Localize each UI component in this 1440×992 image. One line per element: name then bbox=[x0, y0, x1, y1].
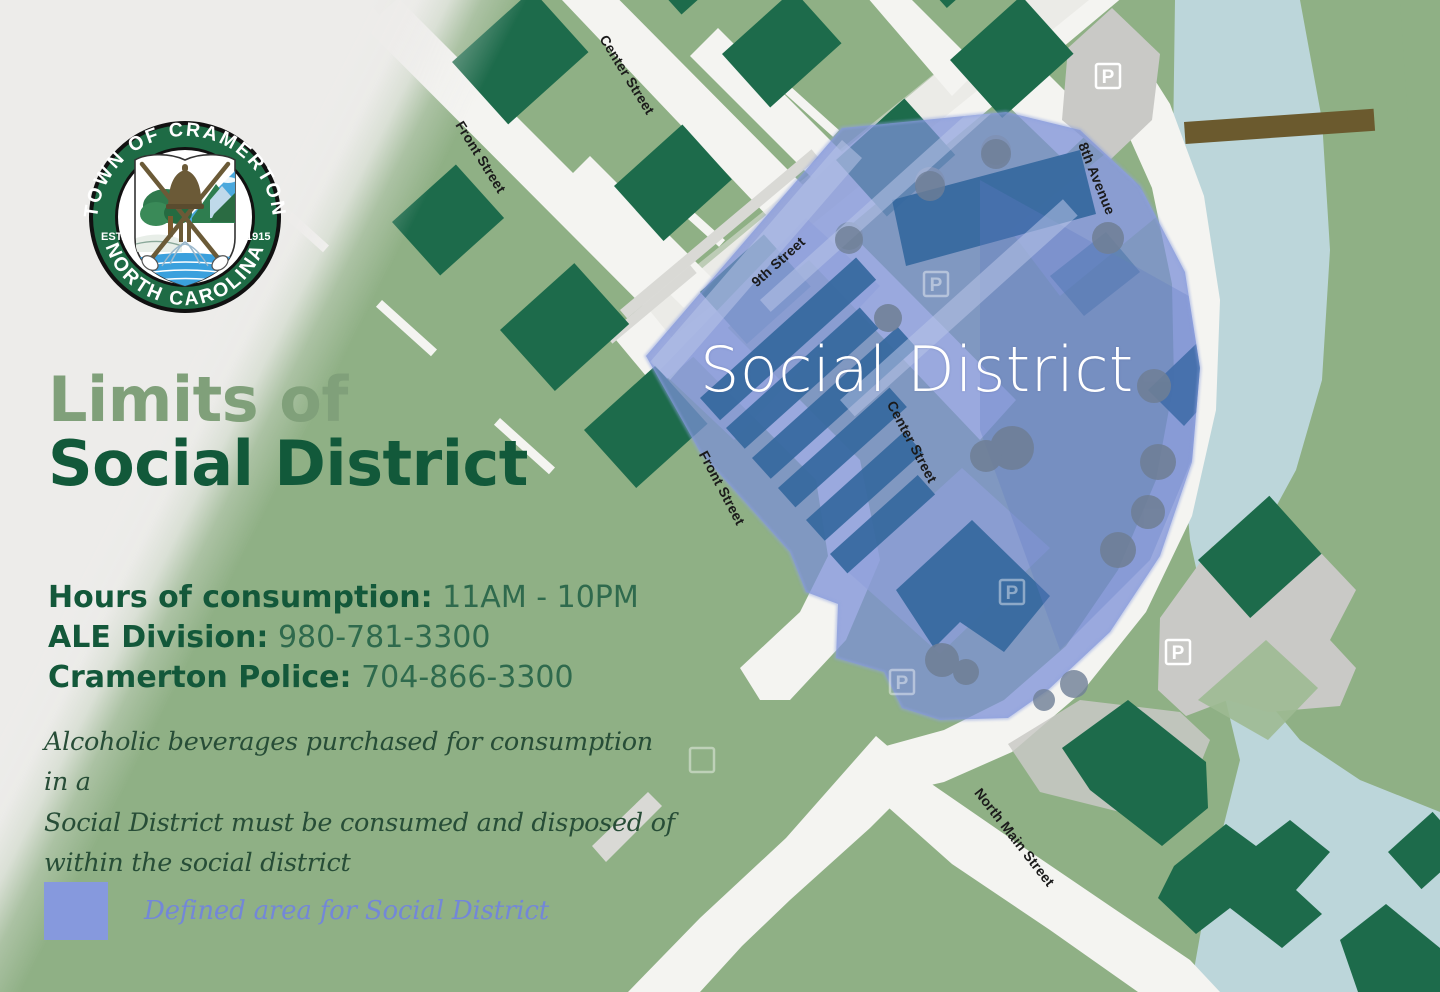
town-seal: TOWN OF CRAMERTON NORTH CAROLINA EST. 19… bbox=[70, 118, 300, 316]
info-value-hours: 11AM - 10PM bbox=[442, 580, 639, 615]
seal-est-text: EST. bbox=[101, 231, 124, 243]
contact-info-block: Hours of consumption: 11AM - 10PM ALE Di… bbox=[48, 578, 688, 698]
legend-label-social-district: Defined area for Social District bbox=[144, 896, 549, 926]
title-line-limits-of: Limits of bbox=[48, 368, 668, 431]
poster-title: Limits of Social District bbox=[48, 368, 668, 497]
social-district-map-label: Social District bbox=[700, 333, 1134, 406]
note-line-1: Alcoholic beverages purchased for consum… bbox=[44, 722, 684, 803]
poster-canvas: P P P P P Front Street Cent bbox=[0, 0, 1440, 992]
legend-swatch-social-district bbox=[44, 882, 108, 940]
seal-crest bbox=[135, 155, 240, 288]
info-value-ale-division: 980-781-3300 bbox=[278, 620, 491, 655]
info-panel: TOWN OF CRAMERTON NORTH CAROLINA EST. 19… bbox=[0, 0, 700, 992]
consumption-note: Alcoholic beverages purchased for consum… bbox=[44, 722, 684, 883]
info-row-ale-division: ALE Division: 980-781-3300 bbox=[48, 618, 688, 658]
info-row-cramerton-police: Cramerton Police: 704-866-3300 bbox=[48, 658, 688, 698]
seal-year-text: 1915 bbox=[246, 231, 270, 243]
info-row-hours: Hours of consumption: 11AM - 10PM bbox=[48, 578, 688, 618]
info-value-cramerton-police: 704-866-3300 bbox=[361, 660, 574, 695]
info-label-hours: Hours of consumption: bbox=[48, 580, 433, 615]
map-legend: Defined area for Social District bbox=[44, 882, 549, 940]
title-line-social-district: Social District bbox=[48, 431, 668, 497]
info-label-cramerton-police: Cramerton Police: bbox=[48, 660, 352, 695]
note-line-2: Social District must be consumed and dis… bbox=[44, 803, 684, 843]
info-label-ale-division: ALE Division: bbox=[48, 620, 268, 655]
note-line-3: within the social district bbox=[44, 843, 684, 883]
